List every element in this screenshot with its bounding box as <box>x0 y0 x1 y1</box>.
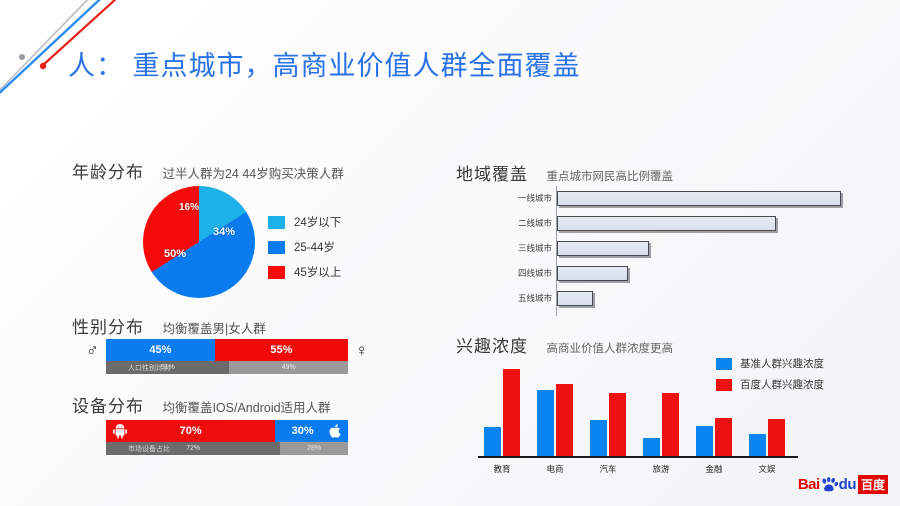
region-bar-label: 四线城市 <box>506 267 557 279</box>
female-symbol-icon: ♀ <box>355 341 368 361</box>
interest-bar-baseline <box>590 420 607 456</box>
legend-item-25to44: 25-44岁 <box>268 239 341 255</box>
legend-item-baseline: 基准人群兴趣浓度 <box>716 356 824 371</box>
interest-bar-baidu <box>662 393 679 456</box>
device-sub-right: 28% <box>280 442 348 455</box>
interest-bar-baseline <box>643 438 660 456</box>
legend-label-baseline: 基准人群兴趣浓度 <box>740 356 824 371</box>
interest-category-label: 汽车 <box>586 463 630 475</box>
male-symbol-icon: ♂ <box>86 341 99 361</box>
region-bar-row: 二线城市 <box>506 214 776 232</box>
gender-split-bar: ♂ ♀ 45% 55% 人口性别比例 51% 49% <box>106 339 348 374</box>
interest-bar-group <box>537 384 573 456</box>
interest-bar-baidu <box>556 384 573 456</box>
gender-section-subtitle: 均衡覆盖男|女人群 <box>162 322 265 336</box>
age-legend: 24岁以下 25-44岁 45岁以上 <box>268 214 341 289</box>
legend-swatch-25to44 <box>268 241 285 254</box>
gender-male-value: 45% <box>149 344 171 356</box>
baidu-paw-icon <box>821 477 838 492</box>
region-bar-label: 五线城市 <box>506 292 557 304</box>
gender-bar-sub: 人口性别比例 51% 49% <box>106 361 348 374</box>
gender-sub-caption: 人口性别比例 <box>128 363 170 373</box>
apple-icon <box>328 423 343 439</box>
gender-bar-male: 45% <box>106 339 215 361</box>
device-bar-android: 70% <box>106 420 275 442</box>
legend-label-under24: 24岁以下 <box>294 214 341 230</box>
interest-bar-baseline <box>749 434 766 456</box>
interest-bar-group <box>590 393 626 456</box>
baidu-logo-cn: 百度 <box>858 475 888 494</box>
page-title: 人： 重点城市，高商业价值人群全面覆盖 <box>68 44 581 83</box>
region-section-header: 地域覆盖 重点城市网民高比例覆盖 <box>456 160 673 185</box>
legend-item-45plus: 45岁以上 <box>268 264 341 280</box>
age-section-subtitle: 过半人群为24 44岁购买决策人群 <box>162 167 343 181</box>
legend-label-baidu: 百度人群兴趣浓度 <box>740 377 824 392</box>
gender-sub-right-value: 49% <box>282 364 296 371</box>
interest-legend: 基准人群兴趣浓度 百度人群兴趣浓度 <box>716 356 824 398</box>
gender-section-header: 性别分布 均衡覆盖男|女人群 <box>72 313 266 338</box>
device-sub-right-value: 28% <box>307 445 321 452</box>
region-bar-label: 三线城市 <box>506 242 557 254</box>
device-ios-value: 30% <box>292 425 314 437</box>
device-bar-main: 70% 30% <box>106 420 348 442</box>
region-bar <box>557 266 628 281</box>
legend-label-25to44: 25-44岁 <box>294 239 335 255</box>
interest-bar-baseline <box>537 390 554 456</box>
age-section-header: 年龄分布 过半人群为24 44岁购买决策人群 <box>72 158 344 183</box>
interest-category-label: 旅游 <box>639 463 683 475</box>
pie-slice-label-45plus: 34% <box>213 226 235 238</box>
device-bar-sub: 市场设备占比 72% 28% <box>106 442 348 455</box>
device-sub-caption: 市场设备占比 <box>128 444 170 454</box>
legend-swatch-baseline <box>716 358 732 370</box>
interest-section-header: 兴趣浓度 高商业价值人群浓度更高 <box>456 332 673 357</box>
interest-category-label: 文娱 <box>745 463 789 475</box>
age-section-title: 年龄分布 <box>72 163 144 182</box>
interest-bar-baidu <box>609 393 626 456</box>
device-android-value: 70% <box>180 425 202 437</box>
gender-bar-female: 55% <box>215 339 348 361</box>
legend-swatch-under24 <box>268 216 285 229</box>
device-section-title: 设备分布 <box>72 397 144 416</box>
interest-bar-baidu <box>715 418 732 456</box>
baidu-logo: Bai du 百度 <box>798 475 888 494</box>
gender-sub-left: 人口性别比例 51% <box>106 361 229 374</box>
pie-slice-label-25to44: 50% <box>164 248 186 260</box>
region-bar-label: 一线城市 <box>506 192 557 204</box>
legend-swatch-baidu <box>716 379 732 391</box>
interest-bar-group <box>484 369 520 456</box>
interest-bar-baseline <box>484 427 501 456</box>
interest-category-label: 教育 <box>480 463 524 475</box>
interest-bar-group <box>749 419 785 456</box>
device-bar-ios: 30% <box>275 420 348 442</box>
legend-swatch-45plus <box>268 266 285 279</box>
gender-bar-main: 45% 55% <box>106 339 348 361</box>
baidu-logo-bai: Bai <box>798 476 820 493</box>
region-bar-label: 二线城市 <box>506 217 557 229</box>
gender-section-title: 性别分布 <box>72 318 144 337</box>
region-bar-row: 一线城市 <box>506 189 841 207</box>
region-bar <box>557 216 776 231</box>
region-bar-chart: 一线城市二线城市三线城市四线城市五线城市 <box>506 186 856 316</box>
device-section-header: 设备分布 均衡覆盖IOS/Android适用人群 <box>72 392 331 417</box>
gender-sub-right: 49% <box>229 361 348 374</box>
pie-slice-label-under24: 16% <box>179 202 199 213</box>
legend-item-under24: 24岁以下 <box>268 214 341 230</box>
baidu-logo-du: du <box>839 476 856 493</box>
region-bar-row: 五线城市 <box>506 289 593 307</box>
interest-section-subtitle: 高商业价值人群浓度更高 <box>546 343 673 355</box>
android-icon <box>112 423 128 439</box>
region-section-title: 地域覆盖 <box>456 165 528 184</box>
age-pie-chart: 16% 50% 34% <box>143 186 255 298</box>
region-bar <box>557 191 841 206</box>
device-section-subtitle: 均衡覆盖IOS/Android适用人群 <box>162 401 330 415</box>
interest-bar-group <box>696 418 732 456</box>
region-bar <box>557 291 593 306</box>
interest-bar-baidu <box>503 369 520 456</box>
gender-female-value: 55% <box>270 344 292 356</box>
device-split-bar: 70% 30% 市场设备占比 72% 28% <box>106 420 348 455</box>
interest-chart-baseline <box>478 456 798 458</box>
interest-section-title: 兴趣浓度 <box>456 337 528 356</box>
interest-category-label: 金融 <box>692 463 736 475</box>
region-bar <box>557 241 649 256</box>
interest-bar-group <box>643 393 679 456</box>
device-sub-left-value: 72% <box>186 445 200 452</box>
interest-category-label: 电商 <box>533 463 577 475</box>
region-bar-row: 三线城市 <box>506 239 649 257</box>
interest-bar-baseline <box>696 426 713 456</box>
region-bar-row: 四线城市 <box>506 264 628 282</box>
device-sub-left: 市场设备占比 72% <box>106 442 280 455</box>
legend-label-45plus: 45岁以上 <box>294 264 341 280</box>
interest-bar-baidu <box>768 419 785 456</box>
region-section-subtitle: 重点城市网民高比例覆盖 <box>546 171 673 183</box>
legend-item-baidu: 百度人群兴趣浓度 <box>716 377 824 392</box>
